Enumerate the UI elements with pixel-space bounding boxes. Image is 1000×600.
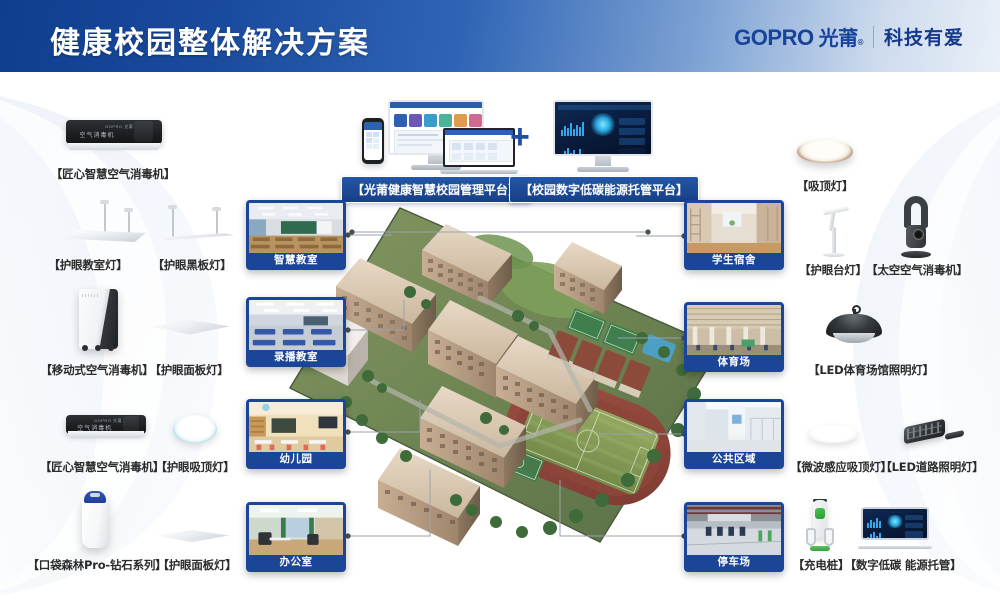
pocket-purifier-icon [72, 492, 118, 552]
wood-ceiling-lamp-icon [795, 135, 855, 169]
scene-card-public-area[interactable]: 公共区域 [684, 399, 784, 469]
tower-air-purifier-icon [893, 196, 939, 258]
product-label-led-road-lamp: 【LED道路照明灯】 [880, 459, 983, 475]
scene-card-recording-classroom[interactable]: 录播教室 [246, 297, 346, 367]
high-bay-led-icon [825, 305, 883, 353]
product-label-eye-care-panel-lamp-bottom: 【护眼面板灯】 [157, 557, 236, 573]
scene-caption-recording-classroom: 录播教室 [249, 350, 343, 364]
registered-trademark-icon: ® [858, 38, 863, 47]
product-label-charging-pile: 【充电桩】 [793, 557, 850, 573]
low-carbon-platform-monitor-mockup [553, 100, 653, 172]
ev-charging-pile-icon [802, 500, 838, 552]
management-platform-phone-mockup [362, 118, 384, 164]
scene-photo-kindergarten [249, 402, 343, 452]
management-platform-laptop-mockup [440, 128, 518, 174]
scene-photo-parking-lot [687, 505, 781, 555]
product-label-mobile-air-disinfector: 【移动式空气消毒机】 [41, 362, 154, 378]
scene-caption-student-dormitory: 学生宿舍 [687, 253, 781, 267]
scene-caption-parking-lot: 停车场 [687, 555, 781, 569]
scene-card-sports-field[interactable]: 体育场 [684, 302, 784, 372]
product-label-led-stadium-lamp: 【LED体育场馆照明灯】 [808, 362, 934, 378]
scene-photo-smart-classroom [249, 203, 343, 253]
cabinet-disinfector-icon [70, 286, 128, 356]
scene-card-parking-lot[interactable]: 停车场 [684, 502, 784, 572]
scene-caption-office: 办公室 [249, 555, 343, 569]
scene-photo-recording-classroom [249, 300, 343, 350]
plus-symbol: + [510, 120, 530, 154]
scene-photo-public-area [687, 402, 781, 452]
scene-photo-student-dormitory [687, 203, 781, 253]
product-label-eye-care-panel-lamp-mid: 【护眼面板灯】 [149, 362, 228, 378]
flat-panel-lamp-icon-bottom [155, 522, 229, 550]
logo-latin-text: GOPRO [734, 25, 813, 51]
product-label-microwave-sensor-ceiling-lamp: 【微波感应吸顶灯】 [790, 459, 892, 475]
product-label-space-air-disinfector: 【太空空气消毒机】 [866, 262, 968, 278]
product-label-craft-air-disinfector-low: 【匠心智慧空气消毒机】 [40, 459, 164, 475]
scene-card-student-dormitory[interactable]: 学生宿舍 [684, 200, 784, 270]
product-label-craft-air-disinfector-top: 【匠心智慧空气消毒机】 [51, 166, 175, 182]
platform-label-low-carbon[interactable]: 【校园数字低碳能源托管平台】 [509, 176, 699, 203]
logo-divider [873, 26, 874, 48]
pendant-panel-lamp-icon [58, 200, 154, 248]
product-label-eye-care-blackboard-lamp: 【护眼黑板灯】 [152, 257, 231, 273]
scene-caption-kindergarten: 幼儿园 [249, 452, 343, 466]
teal-ceiling-lamp-icon [170, 410, 220, 448]
product-label-eye-care-desk-lamp: 【护眼台灯】 [799, 262, 867, 278]
scene-card-kindergarten[interactable]: 幼儿园 [246, 399, 346, 469]
sensor-disc-lamp-icon [806, 418, 860, 450]
logo-gopro-mark: GOPRO 光莆 ® [734, 22, 863, 51]
scene-card-smart-classroom[interactable]: 智慧教室 [246, 200, 346, 270]
brand-logo: GOPRO 光莆 ® 科技有爱 [734, 22, 964, 51]
page-title: 健康校园整体解决方案 [50, 18, 370, 62]
product-label-eye-care-ceiling-lamp: 【护眼吸顶灯】 [155, 459, 234, 475]
wall-air-disinfector-icon: GOPRO 光莆 空气消毒机 [66, 120, 162, 158]
energy-dashboard-laptop-icon [858, 505, 932, 551]
brand-slogan: 科技有爱 [884, 23, 964, 50]
product-label-digital-low-carbon-energy: 【数字低碳 能源托管】 [845, 557, 962, 573]
street-light-icon [903, 415, 965, 453]
desk-lamp-icon [812, 205, 856, 257]
scene-caption-smart-classroom: 智慧教室 [249, 253, 343, 267]
pendant-bar-lamp-icon [152, 205, 238, 249]
flat-panel-lamp-icon-mid [150, 310, 230, 344]
scene-photo-sports-field [687, 305, 781, 355]
wall-air-disinfector-icon-lower: GOPRO 光莆 空气消毒机 [66, 415, 146, 445]
logo-chinese-text: 光莆 [819, 22, 858, 51]
scene-photo-office [249, 505, 343, 555]
product-label-ceiling-lamp: 【吸顶灯】 [797, 178, 854, 194]
platform-label-smart-campus[interactable]: 【光莆健康智慧校园管理平台】 [341, 176, 531, 203]
scene-caption-sports-field: 体育场 [687, 355, 781, 369]
product-label-eye-care-classroom-lamp: 【护眼教室灯】 [48, 257, 127, 273]
scene-card-office[interactable]: 办公室 [246, 502, 346, 572]
scene-caption-public-area: 公共区域 [687, 452, 781, 466]
page-header: 健康校园整体解决方案 GOPRO 光莆 ® 科技有爱 [0, 0, 1000, 72]
product-label-pocket-forest-pro: 【口袋森林Pro-钻石系列】 [28, 557, 167, 573]
